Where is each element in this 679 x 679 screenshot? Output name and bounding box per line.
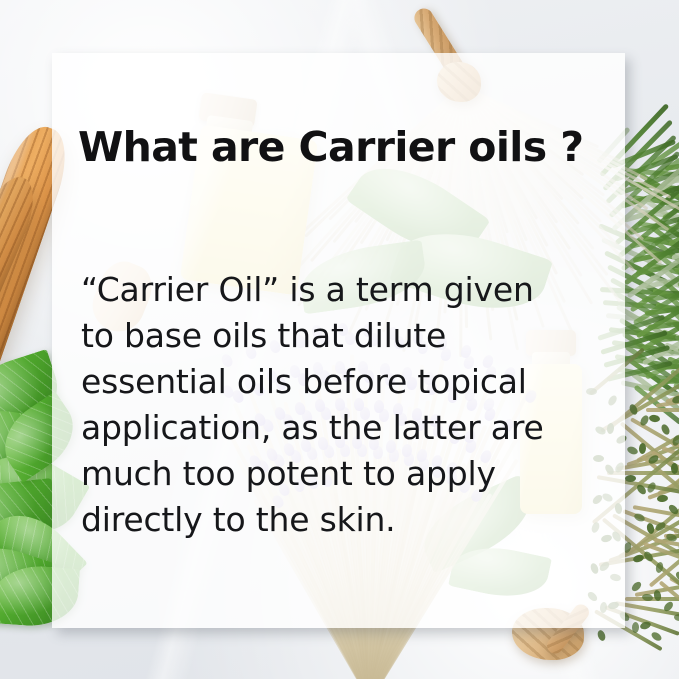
thyme-leaf [632, 622, 639, 633]
thyme-stem [646, 408, 679, 412]
body-line: much too potent to apply [81, 451, 611, 497]
thyme-leaf [674, 614, 679, 622]
body-line: to base oils that dilute [81, 313, 611, 359]
thyme-leaf [596, 629, 606, 642]
graphic-canvas: What are Carrier oils ? “Carrier Oil” is… [0, 0, 679, 679]
thyme-leaf [671, 463, 678, 474]
body-paragraph: “Carrier Oil” is a term given to base oi… [81, 267, 611, 543]
thyme-leaf [657, 494, 669, 502]
body-line: essential oils before topical [81, 359, 611, 405]
body-line: directly to the skin. [81, 497, 611, 543]
content-card: What are Carrier oils ? “Carrier Oil” is… [52, 53, 625, 628]
body-line: application, as the latter are [81, 405, 611, 451]
thyme-leaf [626, 445, 639, 456]
thyme-leaf [633, 512, 646, 523]
page-title: What are Carrier oils ? [78, 123, 618, 171]
thyme-leaf [649, 414, 661, 423]
body-line: “Carrier Oil” is a term given [81, 267, 611, 313]
